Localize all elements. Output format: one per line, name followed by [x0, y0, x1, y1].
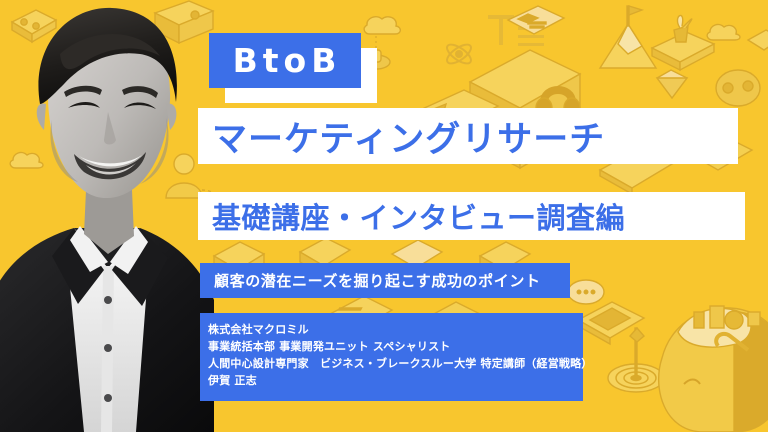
credit-line-qualification: 人間中心設計専門家 ビジネス・ブレークスルー大学 特定講師（経営戦略） — [208, 355, 583, 372]
credit-line-department: 事業統括本部 事業開発ユニット スペシャリスト — [208, 338, 583, 355]
credit-line-name: 伊賀 正志 — [208, 372, 583, 389]
btob-badge-label: BtoB — [229, 44, 342, 77]
sub-title-bar: 基礎講座・インタビュー調査編 — [198, 192, 745, 240]
speaker-photo — [0, 0, 214, 432]
credit-line-company: 株式会社マクロミル — [208, 321, 583, 338]
presentation-slide: BtoB マーケティングリサーチ 基礎講座・インタビュー調査編 顧客の潜在ニーズ… — [0, 0, 768, 432]
speaker-photo-illustration — [0, 0, 214, 432]
tagline-text: 顧客の潜在ニーズを掘り起こす成功のポイント — [200, 270, 541, 291]
tagline-bar: 顧客の潜在ニーズを掘り起こす成功のポイント — [200, 263, 570, 298]
btob-badge-box: BtoB — [209, 33, 361, 88]
chat-bubble-icon — [568, 280, 604, 304]
game-controller-icon — [716, 70, 760, 106]
main-title-bar: マーケティングリサーチ — [198, 108, 738, 164]
sub-title-text: 基礎講座・インタビュー調査編 — [198, 195, 625, 237]
speaker-credits: 株式会社マクロミル 事業統括本部 事業開発ユニット スペシャリスト 人間中心設計… — [200, 313, 583, 401]
btob-badge: BtoB — [209, 33, 361, 88]
main-title-text: マーケティングリサーチ — [198, 111, 605, 162]
